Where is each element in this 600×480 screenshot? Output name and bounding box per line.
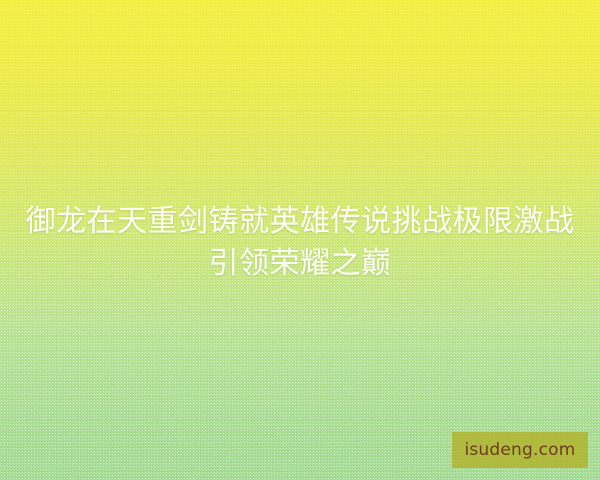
promo-banner: 御龙在天重剑铸就英雄传说挑战极限激战 引领荣耀之巅 isudeng.com — [0, 0, 600, 480]
headline-line-2: 引领荣耀之巅 — [14, 244, 586, 284]
watermark-label: isudeng.com — [464, 442, 575, 459]
headline-text: 御龙在天重剑铸就英雄传说挑战极限激战 引领荣耀之巅 — [0, 202, 600, 284]
headline-line-1: 御龙在天重剑铸就英雄传说挑战极限激战 — [14, 202, 586, 242]
watermark-badge: isudeng.com — [452, 432, 588, 468]
